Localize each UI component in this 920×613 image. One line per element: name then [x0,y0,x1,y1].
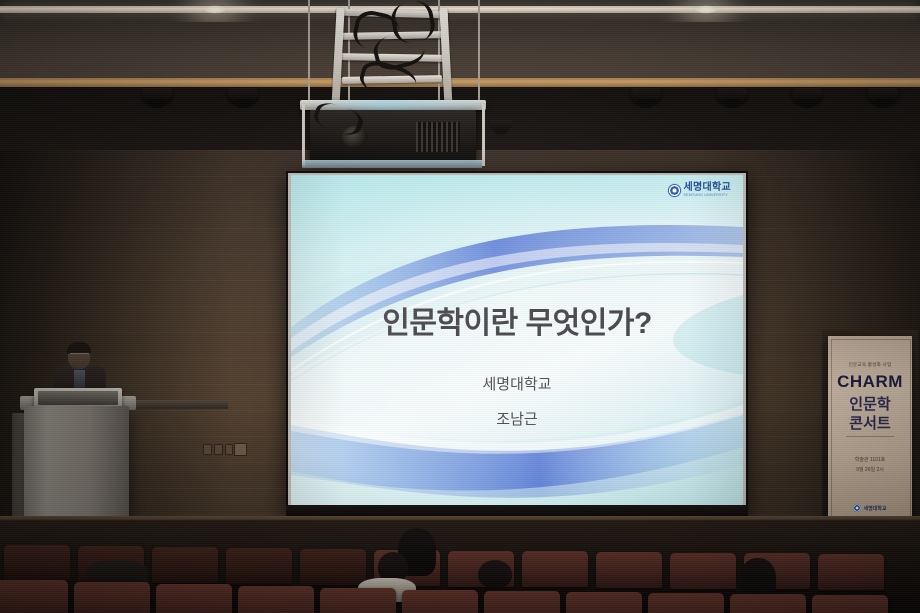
ceiling-spotlight [717,88,747,103]
seat [730,594,806,613]
banner-emblem-icon [853,504,861,512]
seat [818,554,884,590]
banner-info-line1: 학술관 1101호 [828,456,912,463]
banner-footer-logo: 세명대학교 [828,504,912,512]
seat [152,547,218,583]
ceiling-lamp [202,5,228,14]
event-banner: 인문교육 활성화 사업 CHARM 인문학 콘서트 학술관 1101호 9월 2… [828,336,912,536]
university-emblem-icon [668,184,681,197]
ceiling-spotlight [868,88,898,103]
ceiling-spotlight [792,88,822,103]
seat [522,551,588,587]
banner-divider [846,436,894,437]
wall-outlet-plate[interactable] [234,443,247,456]
seat [4,545,70,581]
seat [238,586,314,613]
banner-tagline: 인문교육 활성화 사업 [828,362,912,368]
projector-base [302,160,482,168]
ceiling-spotlight [631,88,661,103]
wall-switch-plate[interactable] [203,444,212,455]
seat [484,591,560,613]
seat [320,588,396,613]
side-table [120,400,228,409]
seat [226,548,292,584]
banner-title-ko-line2: 콘서트 [828,412,912,433]
seat [648,593,724,613]
ceiling-spotlight [228,88,258,103]
hanger-wire [478,0,480,104]
presenter-glasses [70,353,89,359]
ceiling-spotlight [142,88,172,103]
projector-post [302,104,305,166]
seat [156,584,232,613]
audience-person [478,560,512,588]
projector-post [482,104,485,166]
presentation-slide: 세명대학교 SEMYUNG UNIVERSITY 인문학이란 무엇인가? 세명대… [291,175,743,508]
scissor-lift-mount [330,6,456,112]
seat [670,553,736,589]
seat [596,552,662,588]
slide-subtitle-organization: 세명대학교 [291,373,743,394]
wall-switch-plate[interactable] [225,444,233,455]
university-logo-en: SEMYUNG UNIVERSITY [684,194,732,198]
banner-title-ko-line1: 인문학 [828,393,912,414]
ceiling-lamp [693,5,719,14]
lecture-hall-photo: 세명대학교 SEMYUNG UNIVERSITY 인문학이란 무엇인가? 세명대… [0,0,920,613]
university-logo-ko: 세명대학교 [684,183,732,193]
seat [300,549,366,585]
slide-subtitle-presenter: 조남근 [291,408,743,429]
seat [812,595,888,613]
seat [0,580,68,613]
projector-vent [416,122,460,152]
seat [74,582,150,613]
projector-rig [288,0,498,175]
hanger-wire [308,0,310,104]
banner-info-line2: 9월 26일 2시 [828,466,912,473]
wall-switch-plate[interactable] [214,444,223,455]
laptop-screen [38,391,118,405]
seat [566,592,642,613]
seat [402,590,478,613]
banner-footer-text: 세명대학교 [863,505,886,512]
presenter-shirt [74,370,85,388]
slide-title: 인문학이란 무엇인가? [291,298,743,342]
banner-title-en: CHARM [828,372,912,392]
university-logo: 세명대학교 SEMYUNG UNIVERSITY [668,183,732,198]
